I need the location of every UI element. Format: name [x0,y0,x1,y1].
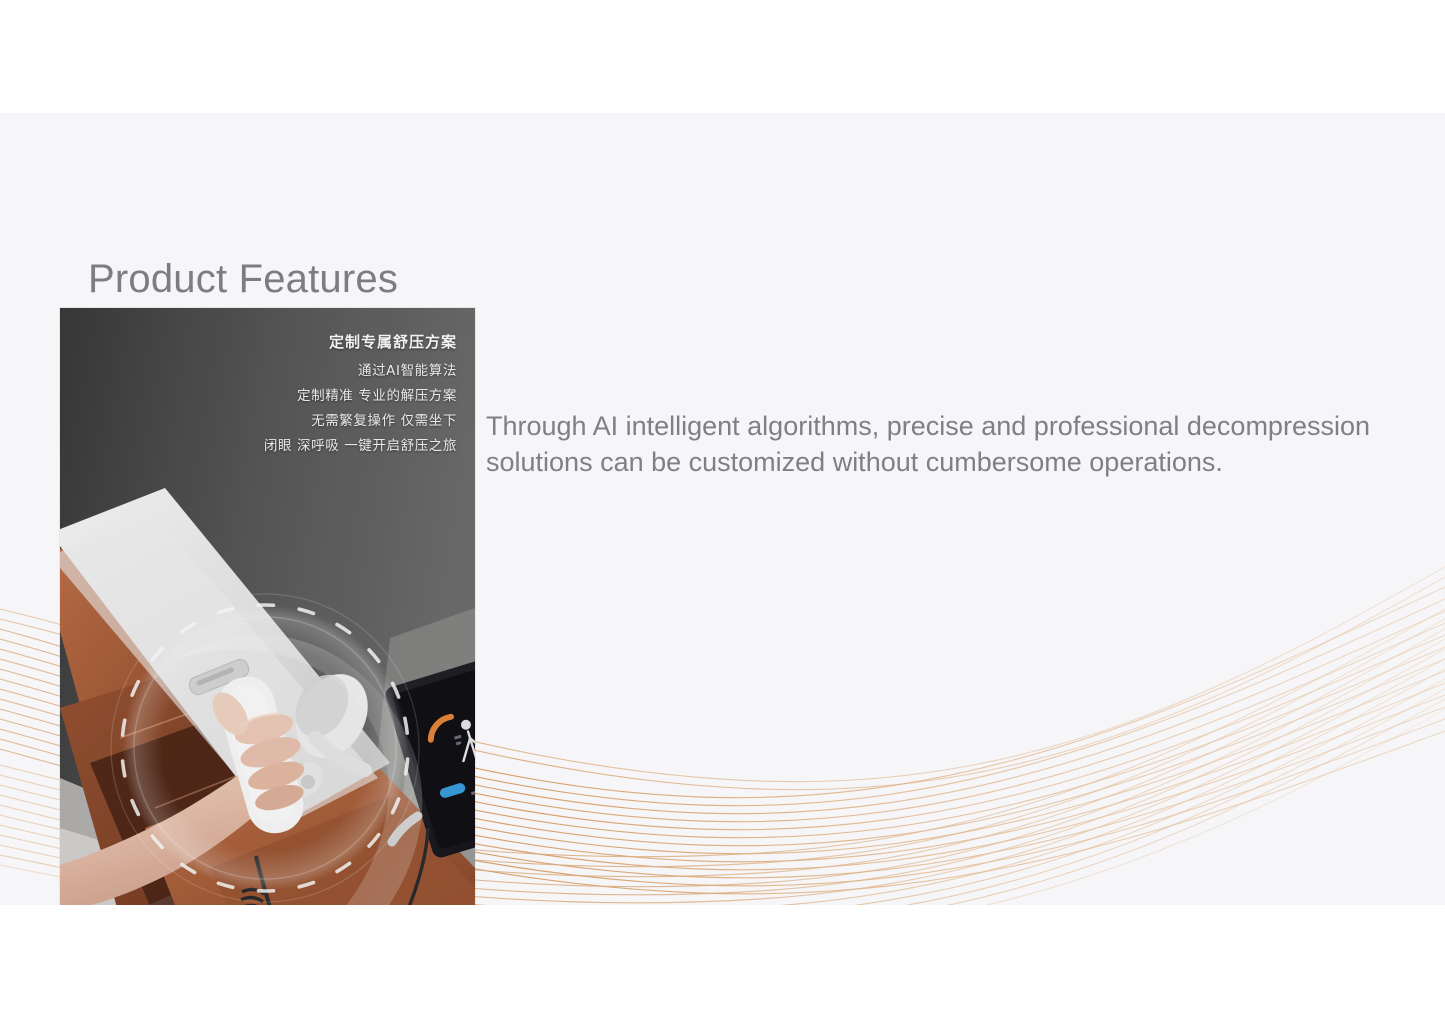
page-title: Product Features [88,253,398,305]
product-feature-photo: 定制专属舒压方案 通过AI智能算法 定制精准 专业的解压方案 无需繁复操作 仅需… [60,308,475,905]
page-canvas: Product Features [0,0,1445,1022]
feature-description-text: Through AI intelligent algorithms, preci… [486,408,1376,480]
slide-canvas: Product Features [0,113,1445,905]
